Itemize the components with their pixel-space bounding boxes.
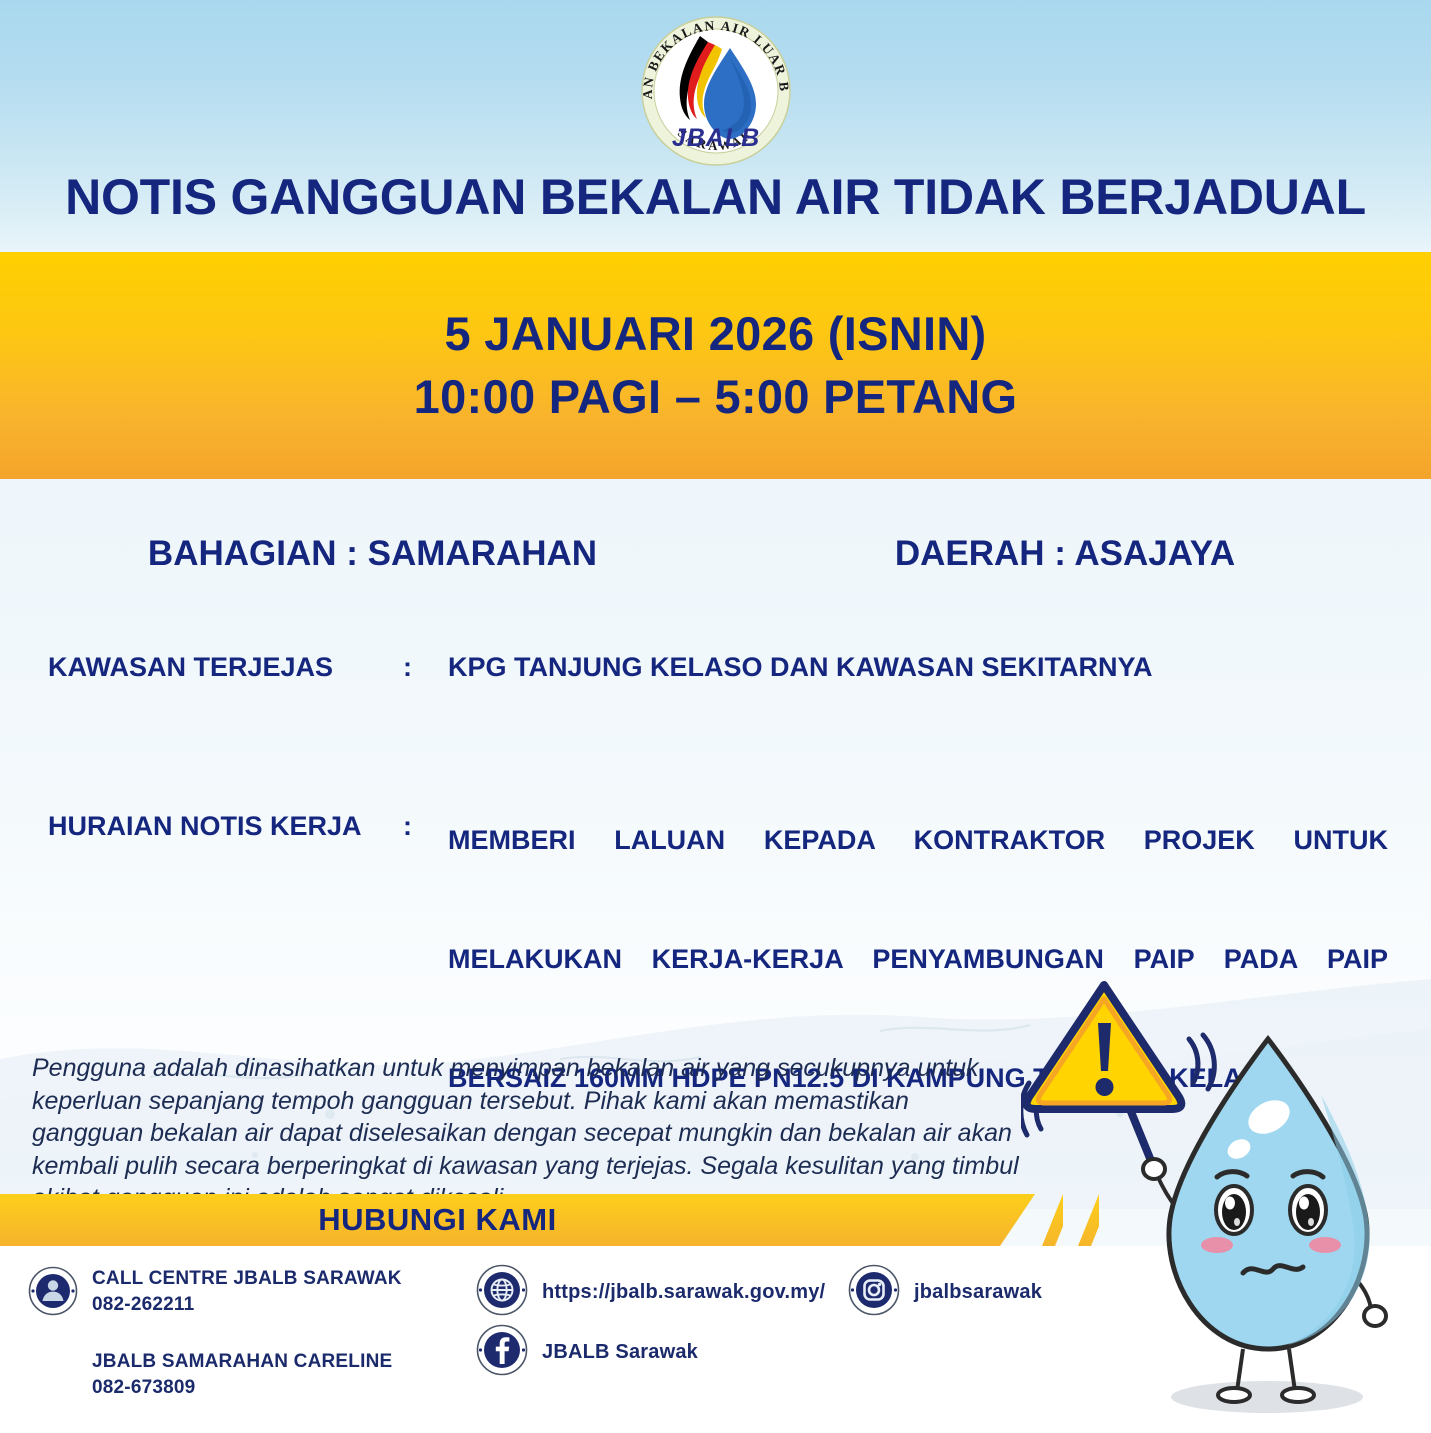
notice-body: BAHAGIAN : SAMARAHAN DAERAH : ASAJAYA KA…	[0, 479, 1431, 1209]
date-time-banner: 5 JANUARI 2026 (ISNIN) 10:00 PAGI – 5:00…	[0, 252, 1431, 479]
banner-stripe-1	[1042, 1194, 1063, 1246]
contact-banner: HUBUNGI KAMI	[0, 1194, 1431, 1246]
contact-website[interactable]: https://jbalb.sarawak.gov.my/	[476, 1264, 825, 1321]
contact-instagram[interactable]: jbalbsarawak	[848, 1264, 1042, 1321]
contact-careline[interactable]: JBALB SAMARAHAN CARELINE 082-673809	[28, 1349, 392, 1401]
instagram-value: jbalbsarawak	[914, 1281, 1042, 1304]
banner-stripe-2	[1078, 1194, 1099, 1246]
work-description-line-1: MEMBERI LALUAN KEPADA KONTRAKTOR PROJEK …	[448, 811, 1388, 930]
contact-banner-label: HUBUNGI KAMI	[318, 1202, 557, 1238]
svg-text:JBALB: JBALB	[671, 124, 759, 152]
work-description-colon: :	[403, 811, 448, 842]
work-description-label: HURAIAN NOTIS KERJA	[48, 811, 403, 842]
notice-time: 10:00 PAGI – 5:00 PETANG	[414, 366, 1018, 428]
affected-area-value: KPG TANJUNG KELASO DAN KAWASAN SEKITARNY…	[448, 652, 1388, 683]
contact-details: CALL CENTRE JBALB SARAWAK 082-262211 JBA…	[0, 1246, 1431, 1433]
careline-title: JBALB SAMARAHAN CARELINE	[92, 1349, 392, 1375]
globe-icon	[476, 1264, 528, 1321]
contact-call-centre[interactable]: CALL CENTRE JBALB SARAWAK 082-262211	[28, 1266, 402, 1321]
advisory-text: Pengguna adalah dinasihatkan untuk menyi…	[32, 1052, 1022, 1209]
facebook-icon	[476, 1324, 528, 1381]
call-centre-title: CALL CENTRE JBALB SARAWAK	[92, 1266, 402, 1292]
contact-banner-body: HUBUNGI KAMI	[0, 1194, 1035, 1246]
work-description-line-2: MELAKUKAN KERJA-KERJA PENYAMBUNGAN PAIP …	[448, 930, 1388, 1049]
contact-facebook[interactable]: JBALB Sarawak	[476, 1324, 698, 1381]
careline-phone: 082-673809	[92, 1375, 392, 1401]
facebook-value: JBALB Sarawak	[542, 1341, 698, 1364]
affected-area-colon: :	[403, 652, 448, 683]
jbalb-logo: JABATAN BEKALAN AIR LUAR BANDAR SARAWAK …	[630, 6, 802, 172]
notice-date: 5 JANUARI 2026 (ISNIN)	[444, 303, 986, 365]
district-label: DAERAH : ASAJAYA	[745, 534, 1385, 574]
instagram-icon	[848, 1264, 900, 1321]
region-row: BAHAGIAN : SAMARAHAN DAERAH : ASAJAYA	[0, 534, 1431, 574]
website-value: https://jbalb.sarawak.gov.my/	[542, 1281, 825, 1304]
affected-area-row: KAWASAN TERJEJAS : KPG TANJUNG KELASO DA…	[48, 652, 1388, 683]
call-centre-phone: 082-262211	[92, 1292, 402, 1318]
affected-area-label: KAWASAN TERJEJAS	[48, 652, 403, 683]
page-title: NOTIS GANGGUAN BEKALAN AIR TIDAK BERJADU…	[0, 168, 1431, 226]
user-icon	[28, 1266, 78, 1321]
water-disruption-notice: JABATAN BEKALAN AIR LUAR BANDAR SARAWAK …	[0, 0, 1431, 1433]
poster-header: JABATAN BEKALAN AIR LUAR BANDAR SARAWAK …	[0, 0, 1431, 252]
division-label: BAHAGIAN : SAMARAHAN	[0, 534, 745, 574]
